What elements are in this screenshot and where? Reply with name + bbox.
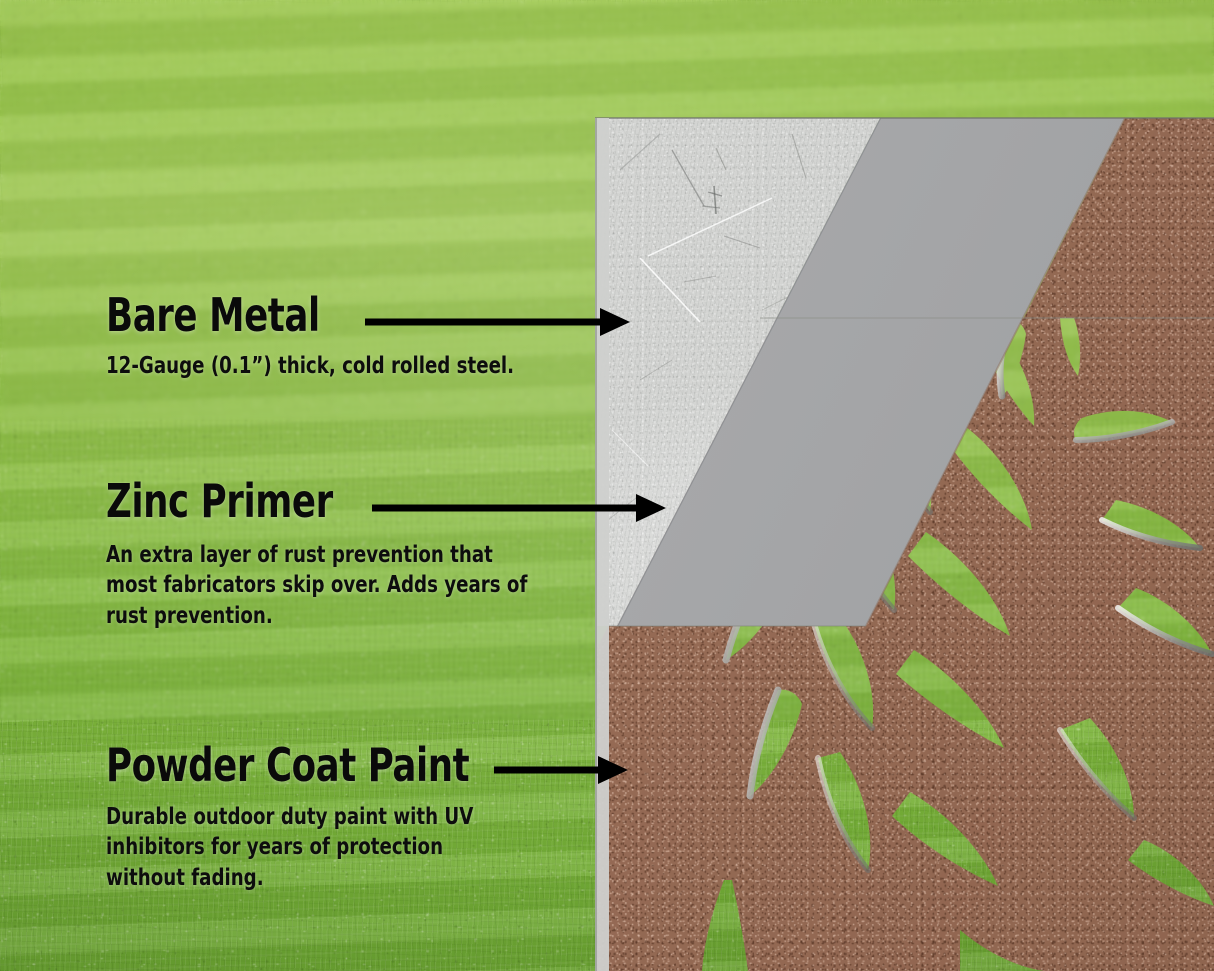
- arrow-zinc-primer: [372, 494, 666, 522]
- arrow-bare-metal: [365, 308, 630, 336]
- callout-arrows: [0, 0, 1214, 971]
- arrow-powder-coat: [494, 756, 628, 784]
- diagram-canvas: Bare Metal 12-Gauge (0.1”) thick, cold r…: [0, 0, 1214, 971]
